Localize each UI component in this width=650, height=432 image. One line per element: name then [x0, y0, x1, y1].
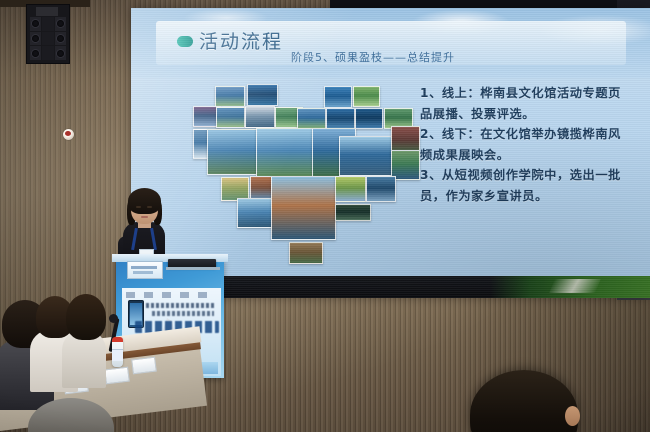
mosaic-photo-tile [297, 108, 326, 129]
slide-body-text: 1、线上：桦南县文化馆活动专题页 品展播、投票评选。 2、线下：在文化馆举办镜揽… [420, 83, 650, 206]
speaker-driver [55, 46, 66, 60]
speaker-top-module [36, 7, 58, 16]
table-name-card [104, 367, 130, 385]
wall-emblem-center [65, 131, 71, 136]
body-line: 2、线下：在文化馆举办镜揽桦南风 [420, 124, 650, 145]
body-line: 频成果展映会。 [420, 145, 650, 166]
speaker-driver [30, 46, 41, 60]
mosaic-photo-tile [324, 86, 352, 108]
line-array-speaker-icon [26, 4, 70, 64]
mosaic-photo-tile [335, 204, 371, 221]
body-line: 员，作为家乡宣讲员。 [420, 186, 650, 207]
mosaic-photo-tile [256, 128, 313, 177]
mosaic-photo-tile [237, 198, 272, 228]
speaker-driver [30, 17, 41, 31]
body-line: 3、从短视频创作学院中，选出一批 [420, 165, 650, 186]
table-microphone-head [109, 314, 118, 323]
mosaic-photo-tile [339, 136, 397, 176]
mosaic-photo-tile [215, 86, 245, 107]
presenter-eye-right [147, 206, 152, 208]
mosaic-photo-tile [355, 108, 383, 129]
audience-member-hair [66, 294, 106, 340]
speaker-driver [30, 32, 41, 46]
mosaic-photo-tile [326, 108, 355, 130]
water-bottle [112, 337, 123, 367]
mosaic-photo-tile [207, 129, 257, 175]
mosaic-photo-tile [289, 242, 323, 264]
speaker-driver [55, 32, 66, 46]
slide-title: 活动流程 [199, 27, 283, 54]
mosaic-photo-tile [271, 176, 336, 240]
podium-nameplate [127, 261, 163, 279]
speaker-slot [42, 17, 53, 31]
mosaic-photo-tile [366, 176, 396, 202]
body-line: 1、线上：桦南县文化馆活动专题页 [420, 83, 650, 104]
teal-oval-icon [177, 36, 193, 47]
laptop-base [166, 267, 220, 270]
footer-road-shape [549, 279, 601, 293]
speaker-driver-grid [30, 17, 66, 60]
slide-subtitle: 阶段5、硕果盈枝——总结提升 [291, 49, 455, 65]
banner-sponsor-logos [126, 292, 216, 298]
speaker-driver [55, 17, 66, 31]
mosaic-photo-tile [216, 107, 245, 128]
presenter-eye-left [136, 206, 141, 208]
screenshot-root: 活动流程 阶段5、硕果盈枝——总结提升 1、线上：桦南县文化馆活动专题页 品展播… [0, 0, 650, 432]
presenter-mouth [141, 216, 148, 218]
table-name-card [131, 357, 157, 375]
nameplate-text-line [131, 266, 157, 269]
presenter-hair [128, 188, 161, 214]
speaker-slot [42, 46, 53, 60]
nameplate-text-line [133, 271, 153, 274]
banner-subtitle-line [152, 311, 214, 316]
banner-subtitle-line [146, 303, 216, 308]
mosaic-photo-tile [247, 84, 278, 106]
mosaic-photo-tile [245, 106, 275, 128]
foreground-head-ear [565, 406, 580, 426]
mosaic-photo-tile [353, 86, 380, 107]
speaker-slot [42, 32, 53, 46]
body-line: 品展播、投票评选。 [420, 104, 650, 125]
mosaic-photo-tile [335, 176, 366, 202]
